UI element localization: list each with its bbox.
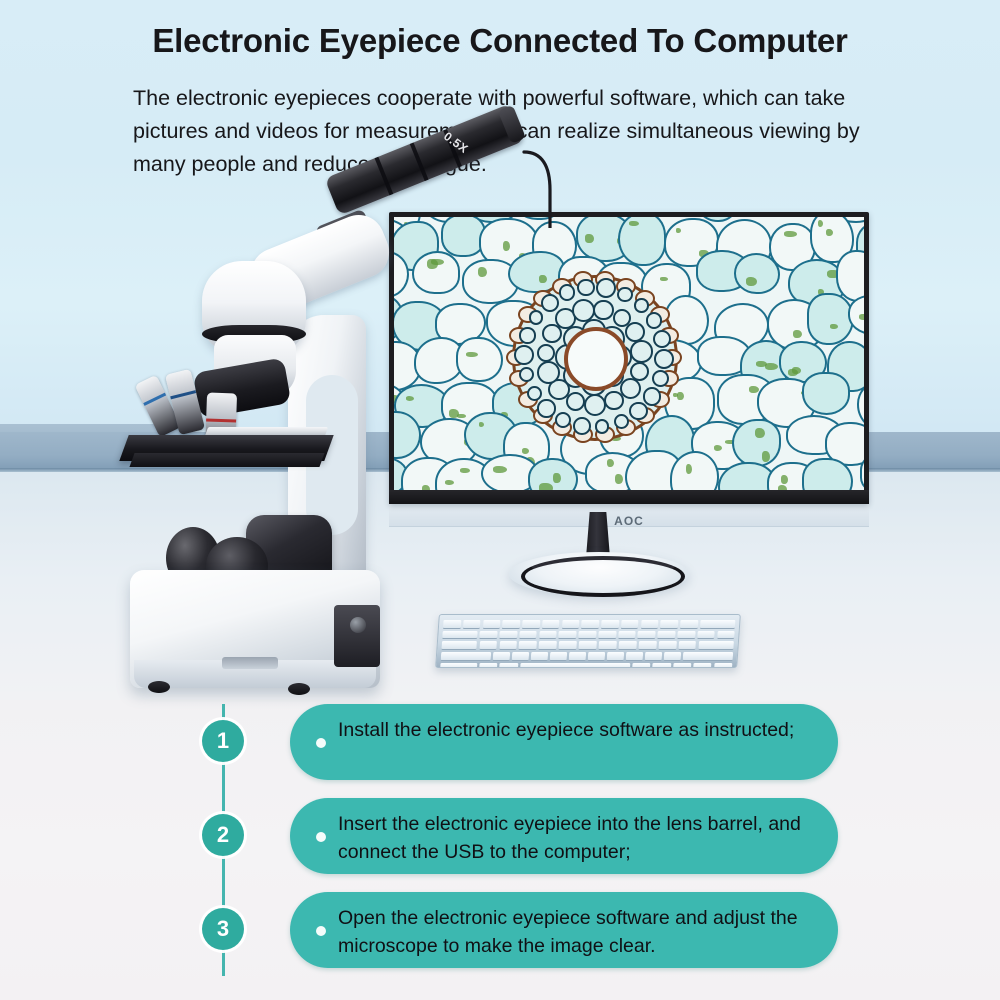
keyboard-key[interactable] <box>693 663 712 668</box>
monitor-chin <box>389 490 869 504</box>
usb-cable-icon <box>520 150 566 228</box>
keyboard-key[interactable] <box>479 663 498 668</box>
specimen-cell <box>456 337 502 382</box>
keyboard-row <box>442 631 735 640</box>
specimen-chloroplast <box>676 228 681 233</box>
specimen-xylem-vessel <box>643 387 662 406</box>
keyboard-key[interactable] <box>657 631 675 640</box>
specimen-xylem-vessel <box>653 330 671 348</box>
specimen-chloroplast <box>539 275 546 283</box>
keyboard-key[interactable] <box>632 663 651 668</box>
specimen-xylem-vessel <box>604 391 624 411</box>
keyboard-key[interactable] <box>663 652 680 661</box>
specimen-xylem-vessel <box>654 349 674 369</box>
keyboard-key[interactable] <box>714 663 733 668</box>
specimen-micrograph-image <box>394 217 864 490</box>
keyboard-key[interactable] <box>698 641 734 650</box>
microscope-foot-left <box>148 681 170 693</box>
step-bullet-dot <box>316 738 326 748</box>
keyboard-key[interactable] <box>539 641 557 650</box>
specimen-chloroplast <box>784 231 798 238</box>
keyboard-key[interactable] <box>579 641 597 650</box>
keyboard-key[interactable] <box>512 652 529 661</box>
keyboard-key[interactable] <box>717 631 735 640</box>
specimen-chloroplast <box>755 428 765 438</box>
specimen-xylem-vessel <box>614 414 629 429</box>
keyboard-key[interactable] <box>645 652 662 661</box>
keyboard-key[interactable] <box>598 641 616 650</box>
specimen-xylem-vessel <box>630 340 653 363</box>
specimen-chloroplast <box>714 445 722 450</box>
specimen-xylem-vessel <box>572 299 595 322</box>
monitor-stand-ring <box>521 556 685 597</box>
specimen-chloroplast <box>553 473 561 484</box>
list-item[interactable]: 3 Open the electronic eyepiece software … <box>196 892 856 972</box>
specimen-chloroplast <box>660 277 668 281</box>
specimen-chloroplast <box>493 466 507 473</box>
keyboard-key[interactable] <box>550 652 567 661</box>
microscope-stage-lower <box>129 453 324 467</box>
specimen-xylem-vessel <box>595 419 609 433</box>
keyboard-key[interactable] <box>539 631 557 640</box>
keyboard-key[interactable] <box>502 620 520 629</box>
specimen-chloroplast <box>762 451 770 462</box>
keyboard-key[interactable] <box>561 620 579 629</box>
specimen-cell <box>802 372 851 414</box>
keyboard-key[interactable] <box>652 663 671 668</box>
keyboard-key[interactable] <box>641 620 659 629</box>
specimen-xylem-vessel <box>527 386 542 401</box>
keyboard-key[interactable] <box>493 652 510 661</box>
specimen-chloroplast <box>615 474 623 483</box>
keyboard-key[interactable] <box>607 652 624 661</box>
list-item[interactable]: 2 Insert the electronic eyepiece into th… <box>196 798 856 878</box>
keyboard-key[interactable] <box>621 620 639 629</box>
keyboard-key[interactable] <box>700 620 736 629</box>
specimen-chloroplast <box>756 361 767 367</box>
step-text: Insert the electronic eyepiece into the … <box>338 810 832 866</box>
specimen-chloroplast <box>466 352 477 357</box>
specimen-chloroplast <box>629 221 639 226</box>
monitor-brand-logo: AOC <box>389 514 869 528</box>
microscope-power-panel <box>334 605 380 667</box>
keyboard-key[interactable] <box>443 620 461 629</box>
specimen-xylem-vessel <box>617 287 632 302</box>
keyboard-key[interactable] <box>638 641 656 650</box>
computer-monitor: AOC <box>389 212 869 504</box>
specimen-xylem-vessel <box>634 298 648 312</box>
monitor-screen <box>394 217 864 490</box>
microscope-power-dial[interactable] <box>350 617 366 633</box>
keyboard-key[interactable] <box>697 631 715 640</box>
step-bullet-dot <box>316 832 326 842</box>
specimen-xylem-vessel <box>593 300 614 321</box>
step-number-badge: 2 <box>202 814 244 856</box>
keyboard-key[interactable] <box>682 652 733 661</box>
keyboard-key[interactable] <box>519 641 537 650</box>
specimen-chloroplast <box>449 409 459 418</box>
specimen-chloroplast <box>677 392 683 400</box>
keyboard-key[interactable] <box>479 641 497 650</box>
specimen-xylem-vessel <box>584 394 606 416</box>
keyboard-key[interactable] <box>479 631 497 640</box>
keyboard-key[interactable] <box>519 631 537 640</box>
specimen-xylem-vessel <box>573 417 591 435</box>
keyboard-key[interactable] <box>441 641 477 650</box>
specimen-cell <box>732 419 780 467</box>
specimen-chloroplast <box>859 314 864 320</box>
specimen-xylem-vessel <box>596 278 616 298</box>
step-number-badge: 1 <box>202 720 244 762</box>
keyboard-row <box>440 663 733 668</box>
specimen-chloroplast <box>503 241 510 250</box>
keyboard-key[interactable] <box>638 631 656 640</box>
keyboard-key[interactable] <box>598 631 616 640</box>
specimen-cell <box>734 253 779 294</box>
keyboard-key[interactable] <box>680 620 698 629</box>
keyboard-key[interactable] <box>601 620 619 629</box>
specimen-cell <box>618 217 666 266</box>
specimen-chloroplast <box>826 229 833 236</box>
keyboard-key[interactable] <box>520 663 630 668</box>
specimen-chloroplast <box>445 480 455 485</box>
specimen-xylem-vessel <box>519 367 534 382</box>
keyboard-key[interactable] <box>678 641 696 650</box>
specimen-xylem-vessel <box>629 402 648 421</box>
specimen-cell <box>807 293 854 345</box>
keyboard-row <box>441 641 734 650</box>
keyboard-key[interactable] <box>673 663 692 668</box>
keyboard-key[interactable] <box>677 631 695 640</box>
keyboard-key[interactable] <box>660 620 678 629</box>
keyboard-key[interactable] <box>542 620 560 629</box>
keyboard-key[interactable] <box>499 663 518 668</box>
keyboard-key[interactable] <box>618 631 636 640</box>
specimen-xylem-vessel <box>577 279 594 296</box>
specimen-xylem-vessel <box>559 284 575 300</box>
keyboard-key[interactable] <box>463 620 481 629</box>
page-title: Electronic Eyepiece Connected To Compute… <box>0 22 1000 60</box>
keyboard-key[interactable] <box>440 663 477 668</box>
keyboard-key[interactable] <box>559 641 577 650</box>
keyboard-key[interactable] <box>441 652 492 661</box>
step-text: Install the electronic eyepiece software… <box>338 716 832 744</box>
step-text: Open the electronic eyepiece software an… <box>338 904 832 960</box>
microscope-base-vent <box>222 657 278 669</box>
microscope: 10X 0.5X <box>110 165 430 700</box>
infographic-page: Electronic Eyepiece Connected To Compute… <box>0 0 1000 1000</box>
keyboard-key[interactable] <box>626 652 643 661</box>
instruction-steps: 1 Install the electronic eyepiece softwa… <box>196 704 856 984</box>
specimen-xylem-vessel <box>537 399 555 417</box>
specimen-xylem-vessel <box>519 327 535 343</box>
specimen-xylem-vessel <box>541 294 559 312</box>
keyboard-key[interactable] <box>578 631 596 640</box>
keyboard-key[interactable] <box>531 652 548 661</box>
keyboard-row <box>441 652 734 661</box>
specimen-xylem-vessel <box>514 345 534 365</box>
keyboard-key[interactable] <box>482 620 500 629</box>
specimen-xylem-vessel <box>537 344 555 362</box>
keyboard-key[interactable] <box>569 652 586 661</box>
keyboard-key[interactable] <box>618 641 636 650</box>
keyboard-key[interactable] <box>559 631 577 640</box>
step-number-badge: 3 <box>202 908 244 950</box>
specimen-chloroplast <box>585 234 593 243</box>
specimen-central-vessel <box>564 327 628 391</box>
specimen-xylem-vessel <box>529 310 543 324</box>
specimen-chloroplast <box>539 483 553 490</box>
keyboard-key[interactable] <box>442 631 478 640</box>
keyboard-key[interactable] <box>588 652 605 661</box>
keyboard-key[interactable] <box>499 631 517 640</box>
keyboard-key[interactable] <box>581 620 599 629</box>
keyboard-key[interactable] <box>499 641 517 650</box>
keyboard-key[interactable] <box>658 641 676 650</box>
microscope-foot-right <box>288 683 310 695</box>
step-bullet-dot <box>316 926 326 936</box>
specimen-chloroplast <box>788 369 798 376</box>
list-item[interactable]: 1 Install the electronic eyepiece softwa… <box>196 704 856 784</box>
keyboard-row <box>443 620 736 629</box>
keyboard-key[interactable] <box>522 620 540 629</box>
computer-keyboard <box>435 614 741 668</box>
